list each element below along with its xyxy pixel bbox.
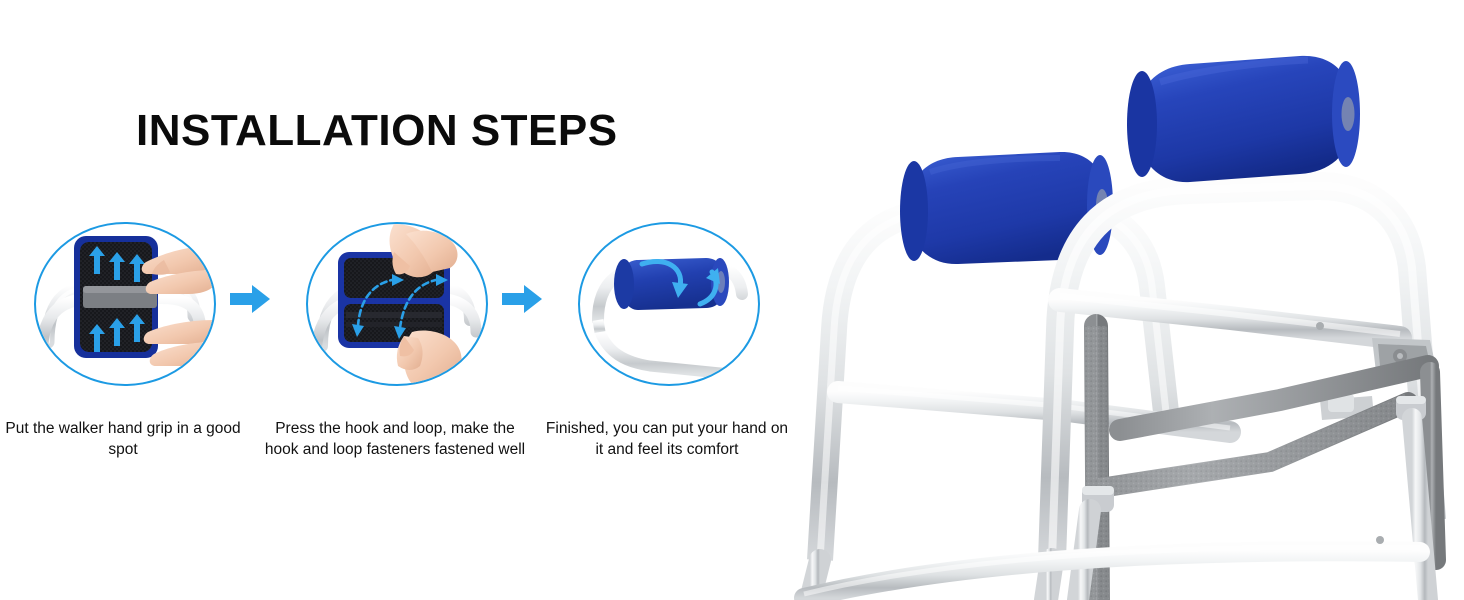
- arrow-step2-to-step3: [500, 282, 544, 316]
- step-3-illustration: [578, 222, 760, 386]
- walker-product-photo: [760, 0, 1464, 600]
- walker-with-blue-handle-cushions-illustration: [760, 0, 1464, 600]
- step-2-illustration: [306, 222, 488, 386]
- right-arrow-icon: [228, 282, 272, 316]
- tube-end-opening: [1342, 97, 1355, 131]
- arrow-step1-to-step2: [228, 282, 272, 316]
- walker-legs: [804, 418, 1428, 600]
- front-handle-cushion: [1127, 56, 1360, 182]
- pad-placed-on-grip-scene: [36, 224, 214, 384]
- rivet-icon: [1376, 536, 1384, 544]
- finished-wrapped-cushion-scene: [580, 224, 758, 384]
- step-2: Press the hook and loop, make the hook a…: [306, 222, 484, 386]
- step-3-caption: Finished, you can put your hand on it an…: [542, 418, 792, 460]
- right-arrow-icon: [500, 282, 544, 316]
- step-1: Put the walker hand grip in a good spot: [34, 222, 212, 386]
- front-crossbar: [1060, 296, 1400, 338]
- infographic-page: INSTALLATION STEPS: [0, 0, 1464, 600]
- page-title: INSTALLATION STEPS: [136, 106, 618, 156]
- step-1-illustration: [34, 222, 216, 386]
- hand-icon: [397, 331, 462, 385]
- step-1-caption: Put the walker hand grip in a good spot: [0, 418, 252, 460]
- step-2-caption: Press the hook and loop, make the hook a…: [257, 418, 533, 460]
- rivet-icon: [1316, 322, 1324, 330]
- pressing-hook-and-loop-scene: [308, 224, 486, 384]
- step-3: Finished, you can put your hand on it an…: [578, 222, 756, 386]
- installation-steps-list: Put the walker hand grip in a good spot: [0, 222, 810, 522]
